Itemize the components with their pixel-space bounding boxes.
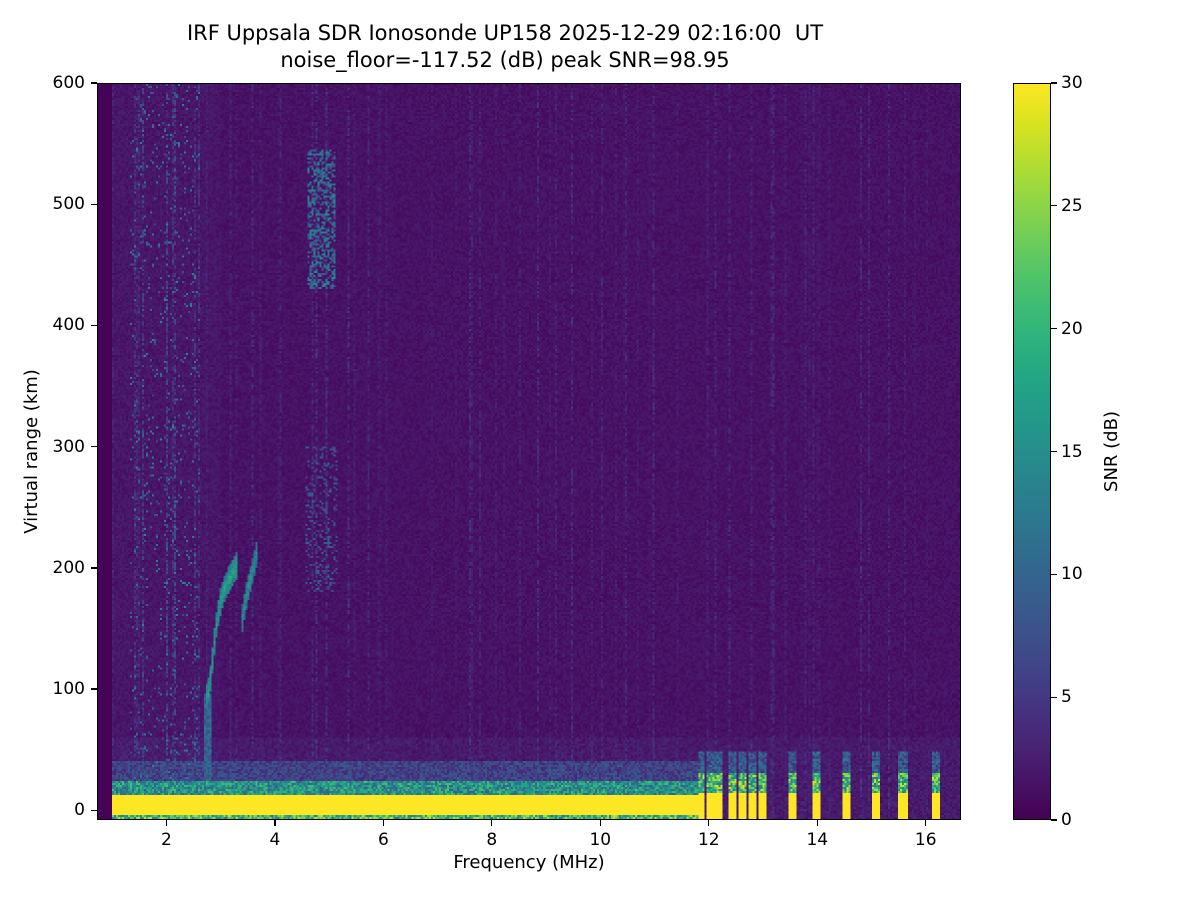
- colorbar-tick-mark: [1051, 819, 1057, 820]
- y-axis-label-text: Virtual range (km): [21, 369, 42, 534]
- x-tick-mark: [708, 820, 709, 826]
- x-tick-label: 6: [378, 830, 389, 850]
- colorbar-tick-label: 10: [1061, 564, 1083, 584]
- x-axis-label-text: Frequency (MHz): [453, 852, 604, 873]
- colorbar-tick-mark: [1051, 328, 1057, 329]
- y-tick-label: 0: [74, 800, 85, 820]
- x-tick-label: 10: [589, 830, 611, 850]
- y-tick-mark: [91, 810, 97, 811]
- y-tick-mark: [91, 567, 97, 568]
- y-tick-mark: [91, 325, 97, 326]
- y-tick-mark: [91, 688, 97, 689]
- y-tick-mark: [91, 446, 97, 447]
- ionogram-heatmap: [98, 84, 960, 819]
- colorbar: [1013, 83, 1051, 820]
- title-line-2: noise_floor=-117.52 (dB) peak SNR=98.95: [0, 47, 1010, 74]
- colorbar-tick-mark: [1051, 697, 1057, 698]
- y-tick-label: 300: [53, 437, 85, 457]
- x-tick-label: 4: [269, 830, 280, 850]
- title-line-1: IRF Uppsala SDR Ionosonde UP158 2025-12-…: [0, 20, 1010, 47]
- plot-area: [97, 83, 961, 820]
- x-tick-label: 8: [486, 830, 497, 850]
- x-axis-label: Frequency (MHz): [97, 852, 961, 873]
- figure-title: IRF Uppsala SDR Ionosonde UP158 2025-12-…: [0, 20, 1010, 75]
- x-tick-mark: [491, 820, 492, 826]
- colorbar-tick-label: 15: [1061, 442, 1083, 462]
- y-tick-label: 100: [53, 679, 85, 699]
- colorbar-tick-label: 5: [1061, 687, 1072, 707]
- x-tick-mark: [383, 820, 384, 826]
- y-tick-mark: [91, 82, 97, 83]
- colorbar-tick-mark: [1051, 82, 1057, 83]
- x-tick-label: 16: [915, 830, 937, 850]
- x-tick-label: 14: [806, 830, 828, 850]
- x-tick-mark: [925, 820, 926, 826]
- y-tick-label: 400: [53, 315, 85, 335]
- y-axis-label: Virtual range (km): [18, 83, 44, 820]
- x-tick-label: 2: [161, 830, 172, 850]
- x-tick-mark: [166, 820, 167, 826]
- colorbar-tick-mark: [1051, 451, 1057, 452]
- x-tick-mark: [274, 820, 275, 826]
- colorbar-tick-mark: [1051, 205, 1057, 206]
- x-tick-label: 12: [698, 830, 720, 850]
- y-tick-label: 200: [53, 558, 85, 578]
- ionogram-figure: IRF Uppsala SDR Ionosonde UP158 2025-12-…: [0, 0, 1200, 900]
- y-tick-mark: [91, 204, 97, 205]
- colorbar-gradient: [1014, 84, 1050, 819]
- y-tick-label: 600: [53, 73, 85, 93]
- colorbar-tick-label: 20: [1061, 319, 1083, 339]
- x-tick-mark: [600, 820, 601, 826]
- colorbar-label: SNR (dB): [1098, 83, 1124, 820]
- x-tick-mark: [817, 820, 818, 826]
- colorbar-label-text: SNR (dB): [1101, 411, 1122, 492]
- colorbar-tick-label: 30: [1061, 73, 1083, 93]
- colorbar-tick-label: 0: [1061, 810, 1072, 830]
- colorbar-tick-mark: [1051, 574, 1057, 575]
- y-tick-label: 500: [53, 194, 85, 214]
- colorbar-tick-label: 25: [1061, 196, 1083, 216]
